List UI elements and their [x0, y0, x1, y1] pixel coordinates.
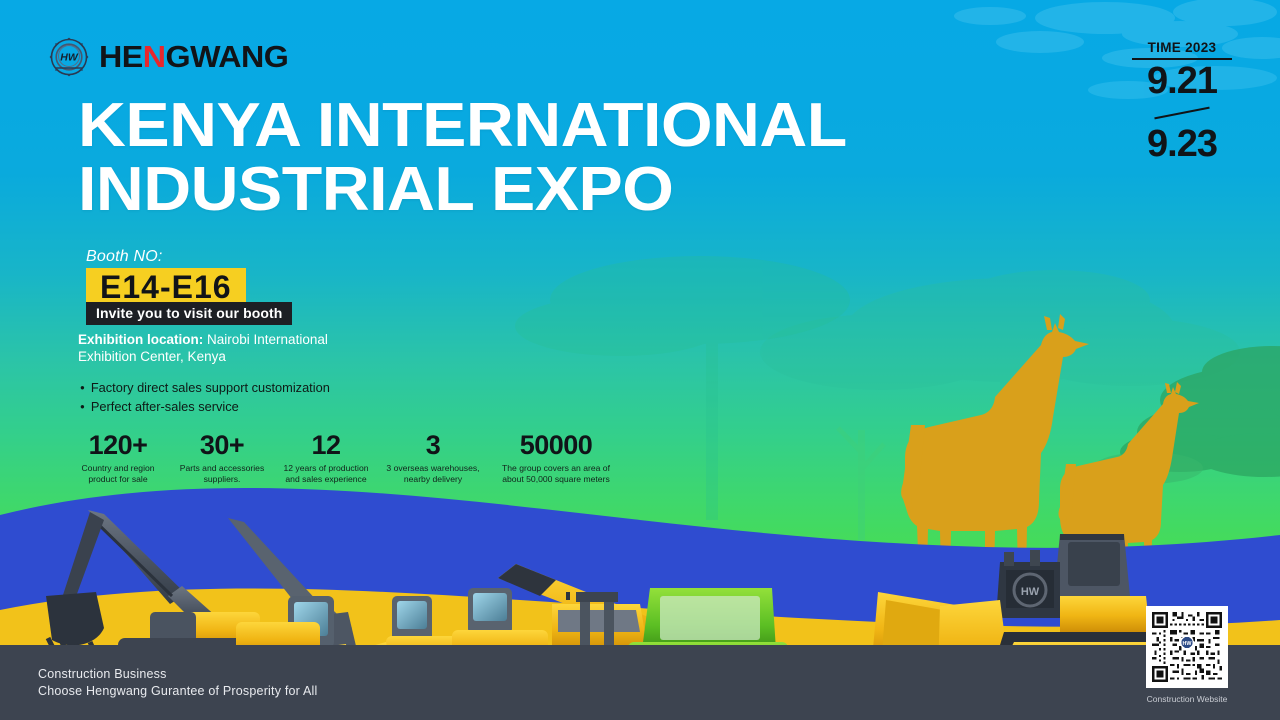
feature-bullet-list: Factory direct sales support customizati… [80, 378, 330, 416]
title-line-1: KENYA INTERNATIONAL [78, 94, 847, 158]
stat-number: 50000 [486, 430, 626, 460]
title-line-2: INDUSTRIAL EXPO [78, 158, 847, 222]
date-separator-slash [1132, 103, 1232, 123]
exhibition-location-label: Exhibition location: [78, 332, 203, 347]
brand-wordmark: HENGWANG [99, 39, 288, 75]
qr-caption: Construction Website [1132, 694, 1242, 704]
list-item: Factory direct sales support customizati… [80, 378, 330, 397]
brand-logo[interactable]: HW HENGWANG [48, 36, 281, 78]
qr-code-block[interactable]: HW Construction Website [1132, 606, 1242, 704]
footer-tagline: Construction Business Choose Hengwang Gu… [38, 666, 318, 700]
wordmark-accent-letter: N [143, 39, 166, 75]
stat-item: 30+ Parts and accessories suppliers. [172, 430, 272, 485]
footer-line-2: Choose Hengwang Gurantee of Prosperity f… [38, 683, 318, 700]
stat-number: 30+ [172, 430, 272, 460]
date-label: TIME 2023 [1132, 40, 1232, 60]
stat-description: The group covers an area of about 50,000… [486, 463, 626, 485]
booth-invite-banner: Invite you to visit our booth [86, 302, 292, 325]
svg-text:HW: HW [1021, 586, 1040, 598]
qr-code-icon[interactable]: HW [1146, 606, 1228, 688]
date-end: 9.23 [1132, 123, 1232, 166]
svg-text:HW: HW [1183, 641, 1193, 647]
page-title: KENYA INTERNATIONAL INDUSTRIAL EXPO [78, 94, 847, 222]
wordmark-part-1: HE [99, 39, 143, 75]
event-date-block: TIME 2023 9.21 9.23 [1132, 40, 1232, 166]
logo-monogram: HW [60, 52, 79, 64]
hengwang-gear-logo-icon: HW [48, 36, 90, 78]
stat-number: 3 [380, 430, 486, 460]
stat-item: 50000 The group covers an area of about … [486, 430, 626, 485]
statistics-row: 120+ Country and region product for sale… [64, 430, 626, 485]
stat-number: 12 [272, 430, 380, 460]
wordmark-part-2: GWANG [166, 39, 289, 75]
stat-item: 120+ Country and region product for sale [64, 430, 172, 485]
stat-description: 3 overseas warehouses, nearby delivery [380, 463, 486, 485]
stat-item: 12 12 years of production and sales expe… [272, 430, 380, 485]
stat-description: Country and region product for sale [64, 463, 172, 485]
expo-poster: HW Construction Business Choose Hengwang [0, 0, 1280, 720]
stat-number: 120+ [64, 430, 172, 460]
list-item: Perfect after-sales service [80, 397, 330, 416]
stat-description: 12 years of production and sales experie… [272, 463, 380, 485]
date-start: 9.21 [1132, 60, 1232, 103]
footer-line-1: Construction Business [38, 666, 318, 683]
booth-label: Booth NO: [86, 248, 163, 266]
exhibition-location: Exhibition location: Nairobi Internation… [78, 331, 378, 365]
stat-description: Parts and accessories suppliers. [172, 463, 272, 485]
stat-item: 3 3 overseas warehouses, nearby delivery [380, 430, 486, 485]
